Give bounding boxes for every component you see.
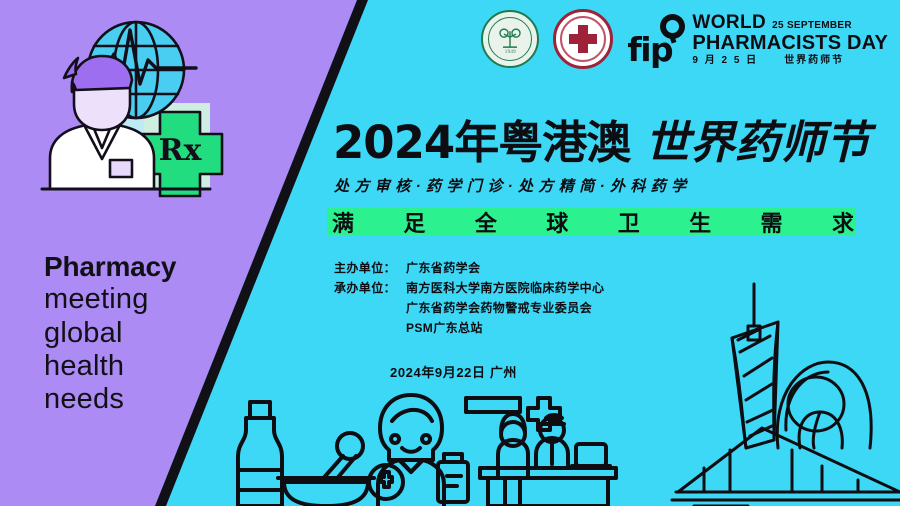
- banner-char-8: 求: [832, 206, 854, 238]
- slogan-line-1: Pharmacy: [44, 252, 254, 282]
- banner-char-5: 卫: [618, 206, 640, 238]
- organizer-row: 承办单位： 南方医科大学南方医院临床药学中心: [334, 282, 604, 294]
- host-label: 主办单位：: [334, 262, 406, 274]
- southern-medical-university-seal-icon: 1949: [481, 10, 539, 68]
- fip-text-block: WORLD 25 SEPTEMBER PHARMACISTS DAY 9 月 2…: [692, 13, 888, 66]
- canton-tower-landmark-icon: [662, 252, 900, 506]
- slogan-banner: 满 足 全 球 卫 生 需 求: [332, 209, 854, 234]
- fip-date-en: 25 SEPTEMBER: [772, 21, 852, 31]
- organizer-label: 承办单位：: [334, 282, 406, 294]
- banner-char-2: 足: [403, 206, 425, 238]
- host-row: 主办单位： 广东省药学会: [334, 262, 604, 274]
- event-date-place: 2024年9月22日 广州: [390, 362, 517, 381]
- fip-title-cn: 世界药师节: [784, 56, 844, 66]
- fip-line-pharmacists-day: PHARMACISTS DAY: [692, 33, 888, 53]
- fip-mark-icon: fip: [627, 14, 687, 64]
- banner-char-6: 生: [689, 206, 711, 238]
- left-slogan: Pharmacy meeting global health needs: [44, 252, 254, 417]
- female-pharmacist-icon: [352, 388, 470, 506]
- organizer-value-3: PSM广东总站: [406, 322, 604, 334]
- banner-char-1: 满: [332, 206, 354, 238]
- page-title: 2024年粤港澳 世界药师节: [333, 120, 870, 165]
- slogan-line-3: global: [44, 318, 254, 349]
- seal-emblem-icon: [497, 27, 523, 49]
- organizer-value-1: 南方医科大学南方医院临床药学中心: [406, 282, 604, 294]
- banner-char-3: 全: [475, 206, 497, 238]
- poster-canvas: Rx Pharmacy meeting global health needs: [0, 0, 900, 506]
- logo-row: 1949 fip WORLD 25 SEPTEMBER PHARMACISTS …: [481, 8, 888, 70]
- organizer-value-2: 广东省药学会药物警戒专业委员会: [406, 302, 604, 314]
- host-value: 广东省药学会: [406, 262, 480, 274]
- slogan-line-4: health: [44, 351, 254, 382]
- fip-world-pharmacists-day-logo: fip WORLD 25 SEPTEMBER PHARMACISTS DAY 9…: [627, 13, 888, 66]
- banner-char-4: 球: [546, 206, 568, 238]
- svg-text:Rx: Rx: [159, 133, 203, 168]
- nanfang-hospital-seal-icon: [553, 9, 613, 69]
- fip-date-cn: 9 月 2 5 日: [692, 56, 758, 66]
- organizers-block: 主办单位： 广东省药学会 承办单位： 南方医科大学南方医院临床药学中心 广东省药…: [334, 262, 604, 342]
- headline-part-2: 世界药师节: [645, 116, 870, 169]
- seal-year: 1949: [483, 50, 537, 55]
- fip-line-world: WORLD: [692, 13, 766, 32]
- banner-char-7: 需: [761, 206, 783, 238]
- pharmacy-counter-icon: [458, 392, 622, 506]
- headline-subtitle: 处方审核·药学门诊·处方精简·外科药学: [334, 175, 692, 196]
- headline-part-1: 2024年粤港澳: [333, 116, 630, 169]
- fip-wordmark: fip: [627, 33, 672, 66]
- pharmacist-globe-rx-icon: Rx: [14, 8, 238, 218]
- slogan-line-2: meeting: [44, 284, 254, 315]
- medical-cross-icon: [569, 25, 597, 53]
